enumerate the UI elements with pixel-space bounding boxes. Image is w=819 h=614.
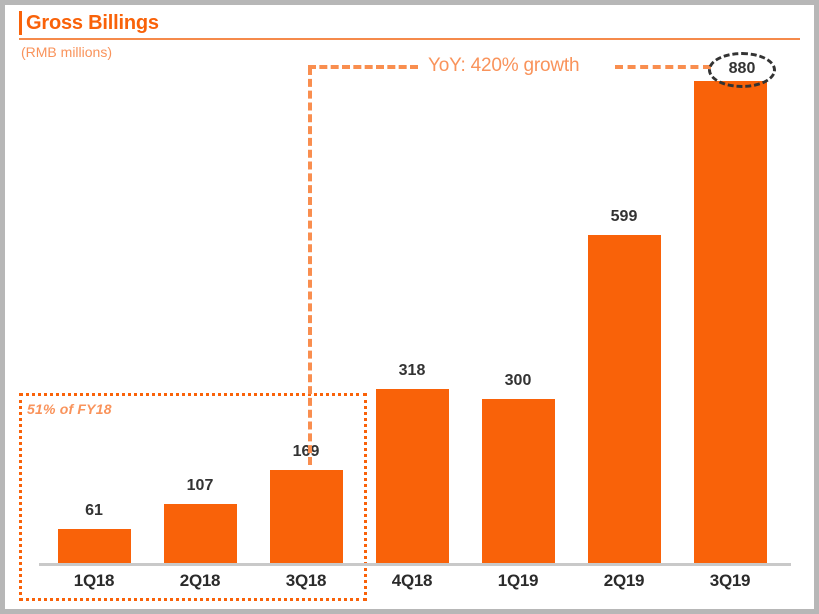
yoy-connector-left — [308, 65, 418, 69]
x-tick-2q19: 2Q19 — [604, 571, 644, 591]
bar-value-1q18: 61 — [85, 502, 103, 520]
bar-value-4q18: 318 — [399, 362, 426, 380]
x-tick-2q18: 2Q18 — [180, 571, 220, 591]
chart-screenshot: Gross Billings (RMB millions) 51% of FY1… — [0, 0, 819, 614]
x-tick-1q19: 1Q19 — [498, 571, 538, 591]
fy18-callout-label: 51% of FY18 — [27, 401, 112, 417]
plot-area: 51% of FY18 61 107 169 318 300 599 1Q18 … — [5, 5, 814, 609]
bar-value-1q19: 300 — [505, 372, 532, 390]
bar-2q19 — [588, 235, 661, 563]
chart-canvas: Gross Billings (RMB millions) 51% of FY1… — [5, 5, 814, 609]
bar-value-3q19: 880 — [708, 60, 776, 78]
x-axis-line — [39, 563, 791, 566]
x-tick-3q18: 3Q18 — [286, 571, 326, 591]
bar-2q18 — [164, 504, 237, 563]
x-tick-1q18: 1Q18 — [74, 571, 114, 591]
bar-3q19 — [694, 81, 767, 563]
yoy-growth-label: YoY: 420% growth — [428, 55, 579, 77]
bar-4q18 — [376, 389, 449, 563]
x-tick-4q18: 4Q18 — [392, 571, 432, 591]
bar-value-2q19: 599 — [611, 208, 638, 226]
x-tick-3q19: 3Q19 — [710, 571, 750, 591]
bar-value-3q18: 169 — [293, 443, 320, 461]
bar-3q18 — [270, 470, 343, 563]
bar-value-2q18: 107 — [187, 477, 214, 495]
yoy-connector-right — [615, 65, 711, 69]
bar-1q18 — [58, 529, 131, 563]
bar-1q19 — [482, 399, 555, 563]
yoy-connector-vertical — [308, 67, 312, 465]
